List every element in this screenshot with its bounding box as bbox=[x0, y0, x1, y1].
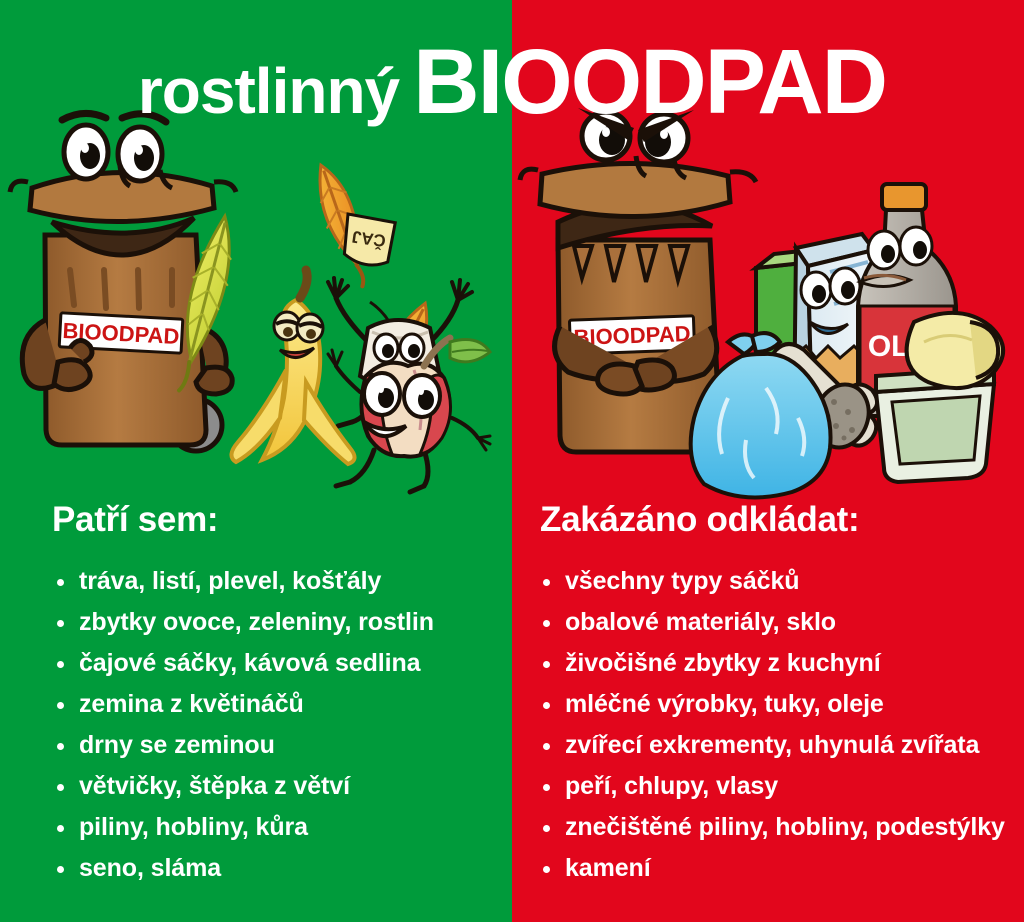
bin-eye-left bbox=[64, 125, 108, 179]
list-item: živočišné zbytky z kuchyní bbox=[538, 643, 1018, 684]
list-item: znečištěné piliny, hobliny, podestýlky bbox=[538, 807, 1018, 848]
right-column-heading: Zakázáno odkládat: bbox=[540, 500, 859, 540]
list-item: piliny, hobliny, kůra bbox=[52, 807, 502, 848]
happy-bin-scene-svg: BIOODPAD bbox=[0, 130, 512, 490]
oil-bottle-cap bbox=[882, 184, 926, 210]
left-illustration: BIOODPAD bbox=[0, 130, 512, 490]
list-item: větvičky, štěpka z větví bbox=[52, 766, 502, 807]
list-item: obalové materiály, sklo bbox=[538, 602, 1018, 643]
left-column-heading: Patří sem: bbox=[52, 500, 218, 540]
list-item: mléčné výrobky, tuky, oleje bbox=[538, 684, 1018, 725]
list-item: seno, sláma bbox=[52, 848, 502, 889]
list-item: tráva, listí, plevel, košťály bbox=[52, 561, 502, 602]
angry-bin-scene-svg: BIOODPAD bbox=[512, 130, 1024, 490]
list-item: zbytky ovoce, zeleniny, rostlin bbox=[52, 602, 502, 643]
list-item: drny se zeminou bbox=[52, 725, 502, 766]
title-word-rostlinny: rostlinný bbox=[138, 55, 399, 127]
list-item: zvířecí exkrementy, uhynulá zvířata bbox=[538, 725, 1018, 766]
bin-eye-right bbox=[118, 127, 162, 181]
forbidden-items-list: všechny typy sáčků obalové materiály, sk… bbox=[538, 561, 1018, 889]
list-item: zemina z květináčů bbox=[52, 684, 502, 725]
accepted-items-list: tráva, listí, plevel, košťály zbytky ovo… bbox=[52, 561, 502, 889]
list-item: všechny typy sáčků bbox=[538, 561, 1018, 602]
list-item: čajové sáčky, kávová sedlina bbox=[52, 643, 502, 684]
title-word-bioodpad: BIOODPAD bbox=[413, 31, 886, 133]
page-title: rostlinnýBIOODPAD bbox=[0, 36, 1024, 128]
bin-lid-right bbox=[540, 163, 730, 216]
butter-stick bbox=[907, 313, 1003, 388]
poster-root: rostlinnýBIOODPAD bbox=[0, 0, 1024, 922]
list-item: kamení bbox=[538, 848, 1018, 889]
list-item: peří, chlupy, vlasy bbox=[538, 766, 1018, 807]
right-illustration: BIOODPAD bbox=[512, 130, 1024, 490]
